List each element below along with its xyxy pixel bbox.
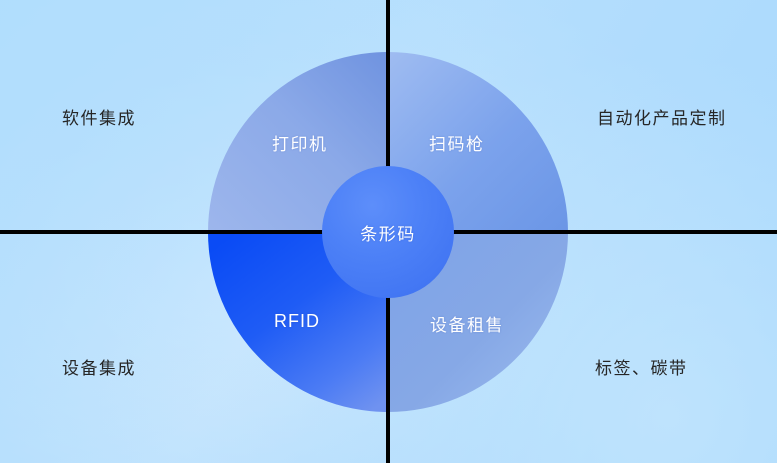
ring-label-rfid[interactable]: RFID [274, 311, 320, 332]
outer-label-software-integration[interactable]: 软件集成 [62, 104, 136, 129]
outer-label-automation-customization[interactable]: 自动化产品定制 [597, 104, 727, 129]
ring-label-scanner[interactable]: 扫码枪 [429, 130, 485, 155]
center-circle-label: 条形码 [360, 220, 416, 245]
outer-label-equipment-integration[interactable]: 设备集成 [62, 354, 136, 379]
ring-label-rental[interactable]: 设备租售 [430, 311, 504, 336]
center-circle[interactable]: 条形码 [322, 166, 454, 298]
outer-label-labels-ribbons[interactable]: 标签、碳带 [595, 354, 688, 379]
ring-label-printer[interactable]: 打印机 [272, 130, 328, 155]
diagram-canvas: 打印机 扫码枪 RFID 设备租售 条形码 软件集成 自动化产品定制 设备集成 … [0, 0, 777, 463]
